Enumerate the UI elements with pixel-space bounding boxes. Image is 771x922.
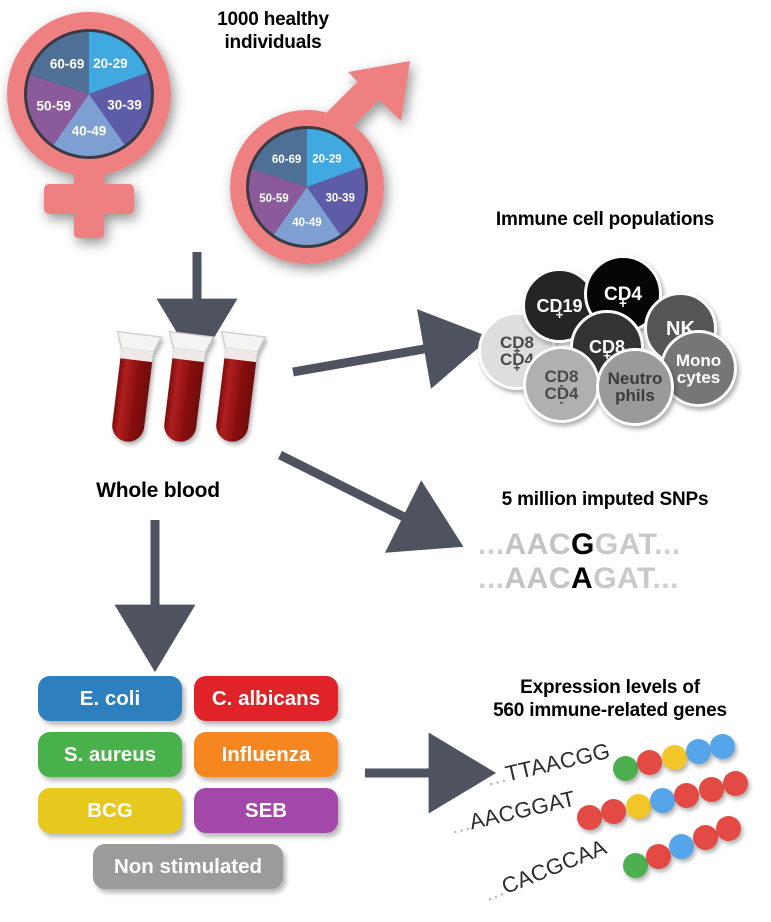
cohort-title: 1000 healthy individuals xyxy=(178,8,368,54)
gene-strand-group: ...TTAACGG...AACGGAT...CACGCAA xyxy=(455,740,771,915)
age-slice-label: 50-59 xyxy=(36,98,71,113)
snp-title: 5 million imputed SNPs xyxy=(455,488,755,511)
gene-expression-dot xyxy=(650,788,675,813)
gene-expression-dot xyxy=(723,771,748,796)
immune-cell-label: Neutrophils xyxy=(608,370,663,404)
blood-tube xyxy=(156,332,213,445)
immune-cell-cluster: CD8+CD4+CD19+CD4+NKCD8+MonocytesCD8-CD4-… xyxy=(460,238,760,423)
arrow-blood-to-snps xyxy=(280,455,424,527)
whole-blood-label: Whole blood xyxy=(68,478,248,504)
stimulus-c-albicans[interactable]: C. albicans xyxy=(194,676,338,721)
gene-expression-title: Expression levels of 560 immune-related … xyxy=(455,676,765,722)
gene-expression-dot xyxy=(686,739,711,764)
gene-strand-sequence: ...AACGGAT xyxy=(448,786,578,840)
gene-expression-dot xyxy=(623,853,648,878)
gene-expression-dot xyxy=(646,844,671,869)
blood-tube xyxy=(208,332,265,445)
gene-expression-dot xyxy=(637,750,662,775)
age-slice-label: 60-69 xyxy=(50,56,85,71)
gene-expression-dot xyxy=(626,794,651,819)
age-slice-label: 40-49 xyxy=(292,217,321,229)
gene-expression-dot xyxy=(710,734,735,759)
stimuli-row: S. aureusInfluenza xyxy=(38,732,338,777)
stimuli-row: E. coliC. albicans xyxy=(38,676,338,721)
male-symbol: 20-2930-3940-4950-5960-69 xyxy=(205,55,430,270)
snp-sequence-row: ...AACGGAT... xyxy=(478,528,748,562)
stimulus-e-coli[interactable]: E. coli xyxy=(38,676,182,721)
age-slice-label: 20-29 xyxy=(312,153,341,165)
stimulus-bcg[interactable]: BCG xyxy=(38,788,182,833)
stimulus-influenza[interactable]: Influenza xyxy=(194,732,338,777)
gene-expression-dot xyxy=(601,799,626,824)
gene-title-line2: 560 immune-related genes xyxy=(455,699,765,722)
cohort-title-line1: 1000 healthy xyxy=(178,8,368,31)
gene-expression-dot xyxy=(674,783,699,808)
stimulus-s-aureus[interactable]: S. aureus xyxy=(38,732,182,777)
gene-expression-dot xyxy=(662,745,687,770)
stimuli-row: Non stimulated xyxy=(38,844,338,889)
stimulus-seb[interactable]: SEB xyxy=(194,788,338,833)
blood-tube-group xyxy=(108,330,268,460)
age-slice-label: 20-29 xyxy=(93,56,128,71)
gene-expression-dot xyxy=(577,805,602,830)
immune-cell-neutrophils: Neutrophils xyxy=(596,348,674,426)
stimulus-non-stimulated[interactable]: Non stimulated xyxy=(93,844,283,889)
age-slice-label: 30-39 xyxy=(107,98,142,113)
gene-strand-sequence: ...CACGCAA xyxy=(480,834,610,907)
gene-expression-dot xyxy=(613,756,638,781)
arrow-blood-to-immune xyxy=(293,345,447,372)
immune-cell-label: CD19+ xyxy=(536,297,582,315)
age-slice-label: 50-59 xyxy=(259,193,288,205)
age-slice-label: 60-69 xyxy=(272,154,301,166)
gene-expression-dot xyxy=(693,825,718,850)
blood-tube xyxy=(108,332,161,445)
immune-cell-cd8cd4: CD8-CD4- xyxy=(523,346,600,423)
cohort-title-line2: individuals xyxy=(178,31,368,54)
gene-expression-dot xyxy=(716,816,741,841)
immune-cell-label: Monocytes xyxy=(676,352,721,386)
whole-blood-tubes xyxy=(108,330,268,465)
snp-sequence-row: ...AACAGAT... xyxy=(478,562,748,596)
gene-strand-sequence: ...TTAACGG xyxy=(484,738,613,792)
gene-title-line1: Expression levels of xyxy=(455,676,765,699)
stimuli-panel: E. coliC. albicansS. aureusInfluenzaBCGS… xyxy=(38,676,338,889)
mars-symbol: 20-2930-3940-4950-5960-69 xyxy=(205,55,430,270)
age-slice-label: 30-39 xyxy=(325,192,354,204)
immune-cell-label: CD8-CD4- xyxy=(544,368,578,402)
stimuli-row: BCGSEB xyxy=(38,788,338,833)
snp-sequences: ...AACGGAT......AACAGAT... xyxy=(478,528,748,596)
gene-expression-dot xyxy=(669,834,694,859)
immune-cell-label: CD4+ xyxy=(604,285,642,304)
age-slice-label: 40-49 xyxy=(72,124,107,139)
immune-cell-title: Immune cell populations xyxy=(455,208,755,231)
gene-expression-dot xyxy=(699,777,724,802)
